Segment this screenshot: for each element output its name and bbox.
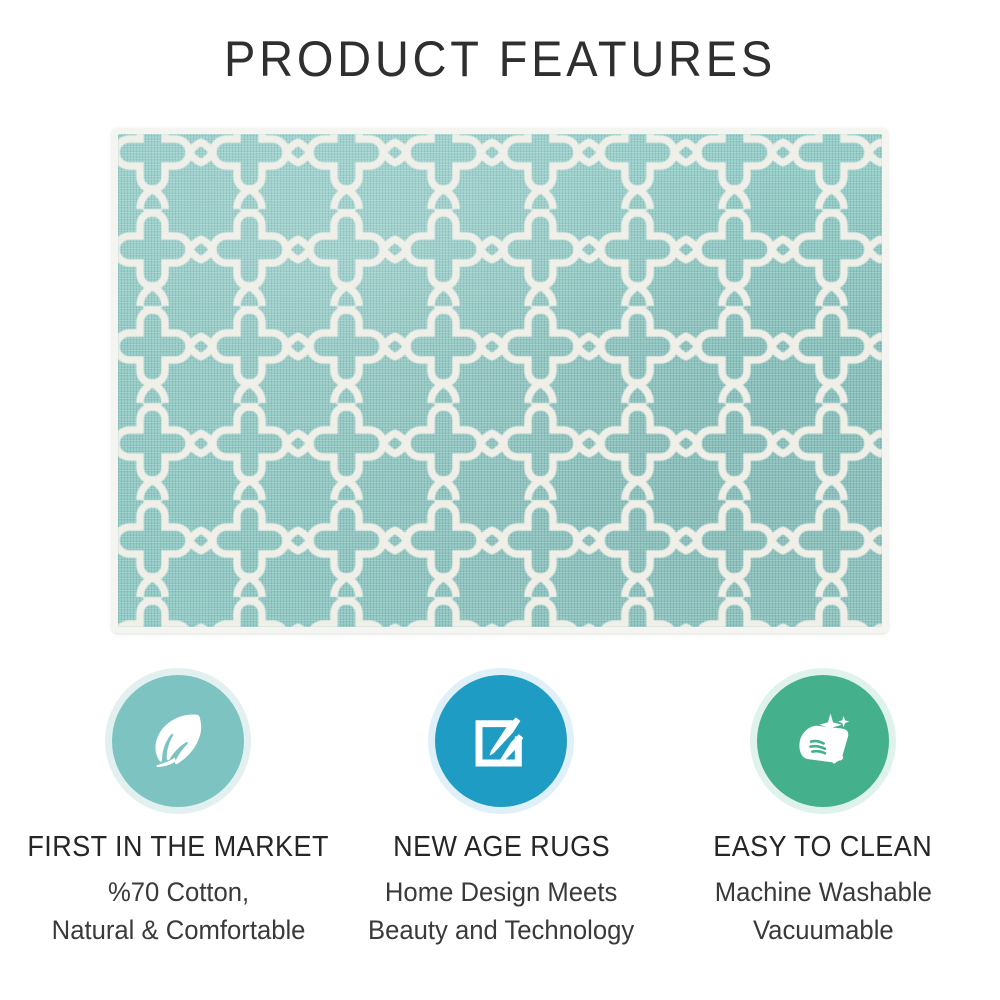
feather-icon-badge <box>112 675 244 807</box>
feature-list: FIRST IN THE MARKET %70 Cotton, Natural … <box>0 675 1000 950</box>
feature-description: Machine Washable Vacuumable <box>709 873 938 950</box>
feature-line: %70 Cotton, <box>51 873 305 911</box>
hand-wiping-cloth-sparkle-icon-badge <box>757 675 889 807</box>
feature-item-easy-to-clean: EASY TO CLEAN Machine Washable Vacuumabl… <box>662 675 984 950</box>
feature-item-first-in-the-market: FIRST IN THE MARKET %70 Cotton, Natural … <box>16 675 340 950</box>
pen-square-design-icon <box>464 704 538 778</box>
feature-line: Home Design Meets <box>368 873 634 911</box>
feature-line: Vacuumable <box>714 911 931 949</box>
feather-icon <box>139 702 217 780</box>
feature-line: Natural & Comfortable <box>51 911 305 949</box>
feature-description: Home Design Meets Beauty and Technology <box>361 873 641 950</box>
hand-wiping-cloth-sparkle-icon <box>783 701 863 781</box>
feature-heading: EASY TO CLEAN <box>714 831 933 864</box>
rug-surface <box>118 134 882 627</box>
product-image <box>112 128 888 633</box>
feature-description: %70 Cotton, Natural & Comfortable <box>45 873 312 950</box>
feature-heading: FIRST IN THE MARKET <box>27 831 329 864</box>
feature-heading: NEW AGE RUGS <box>393 831 610 864</box>
rug-trellis-pattern <box>118 134 882 627</box>
feature-line: Beauty and Technology <box>368 911 634 949</box>
feature-line: Machine Washable <box>714 873 931 911</box>
page-title: PRODUCT FEATURES <box>30 30 970 88</box>
pen-square-design-icon-badge <box>435 675 567 807</box>
feature-item-new-age-rugs: NEW AGE RUGS Home Design Meets Beauty an… <box>340 675 662 950</box>
